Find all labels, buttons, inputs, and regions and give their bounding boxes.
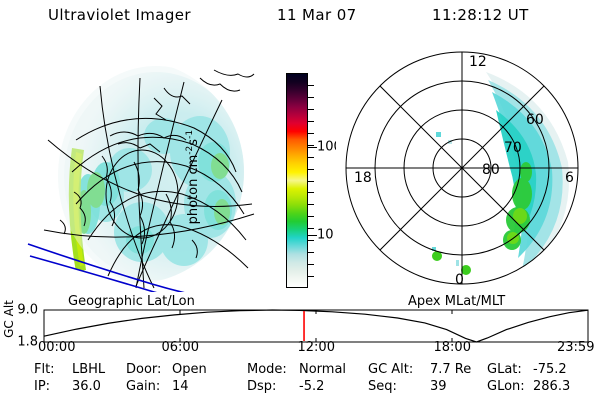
orbit-x-tick-label: 23:59 [557,340,594,355]
colorbar[interactable]: 10010 photon cm-2s-1 [286,73,308,288]
header-bar: Ultraviolet Imager 11 Mar 07 11:28:12 UT [0,6,600,30]
colorbar-minor-tick [308,145,314,146]
status-value-flt: LBHL [72,362,105,377]
status-label-gain: Gain: [126,379,160,394]
colorbar-minor-tick [308,192,314,193]
mlt-label-6: 6 [565,170,574,186]
geographic-plot-svg [14,44,258,292]
geographic-image-panel[interactable] [14,44,258,292]
orbit-x-tick-label: 06:00 [162,340,199,355]
status-label-seq: Seq: [368,379,397,394]
colorbar-minor-tick [308,276,314,277]
status-label-ip: IP: [34,379,50,394]
status-value-dsp: -5.2 [299,379,324,394]
status-label-mode: Mode: [247,362,287,377]
status-value-glat: -75.2 [533,362,567,377]
apex-magnetic-panel[interactable]: 12 18 6 0 60 70 80 [336,44,588,292]
colorbar-minor-tick [308,109,314,110]
status-label-flt: Flt: [34,362,55,377]
mlt-label-0: 0 [455,272,464,288]
colorbar-major-tick [308,235,317,236]
observation-time: 11:28:12 UT [432,6,529,24]
status-value-ip: 36.0 [72,379,101,394]
status-label-glon: GLon: [487,379,525,394]
mlat-label-60: 60 [526,112,544,128]
colorbar-minor-tick [308,85,314,86]
observation-date: 11 Mar 07 [277,6,357,24]
status-label-dsp: Dsp: [247,379,276,394]
colorbar-minor-tick [308,157,314,158]
colorbar-minor-tick [308,264,314,265]
status-value-door: Open [172,362,207,377]
colorbar-minor-tick [308,204,314,205]
mlat-label-70: 70 [504,140,522,156]
status-label-gc-alt: GC Alt: [368,362,413,377]
colorbar-tick-label-10: 10 [317,228,334,243]
apex-plot-svg: 12 18 6 0 60 70 80 [336,44,588,292]
colorbar-minor-tick [308,228,314,229]
mlt-spokes [346,52,578,284]
status-value-gain: 14 [172,379,189,394]
colorbar-minor-tick [308,133,314,134]
colorbar-major-tick [308,147,317,148]
colorbar-minor-tick [308,240,314,241]
colorbar-minor-tick [308,181,314,182]
colorbar-minor-tick [308,169,314,170]
status-label-glat: GLat: [487,362,522,377]
colorbar-minor-tick [308,97,314,98]
status-value-seq: 39 [430,379,447,394]
colorbar-axis-label: photon cm-2s-1 [185,62,201,292]
orbit-frame [44,310,588,342]
status-value-mode: Normal [299,362,346,377]
orbit-altitude-strip[interactable]: GC Alt 9.01.8 00:0006:0012:0018:0023:59 [0,304,600,356]
colorbar-minor-tick [308,252,314,253]
orbit-x-tick-label: 18:00 [434,340,471,355]
orbit-y-tick-label: 1.8 [4,335,38,350]
colorbar-minor-tick [308,121,314,122]
mlat-label-80: 80 [482,162,500,178]
orbit-y-tick-label: 9.0 [4,303,38,318]
colorbar-minor-tick [308,216,314,217]
mlt-label-18: 18 [354,170,372,186]
orbit-x-tick-label: 12:00 [298,340,335,355]
status-label-door: Door: [126,362,161,377]
status-value-glon: 286.3 [533,379,570,394]
status-value-gc-alt: 7.7 Re [430,362,471,377]
colorbar-frame [286,73,308,288]
orbit-x-tick-label: 00:00 [38,340,75,355]
instrument-title: Ultraviolet Imager [48,6,191,24]
status-readout: Flt:LBHLDoor:OpenMode:NormalGC Alt:7.7 R… [0,362,600,400]
mlt-label-12: 12 [469,54,487,70]
